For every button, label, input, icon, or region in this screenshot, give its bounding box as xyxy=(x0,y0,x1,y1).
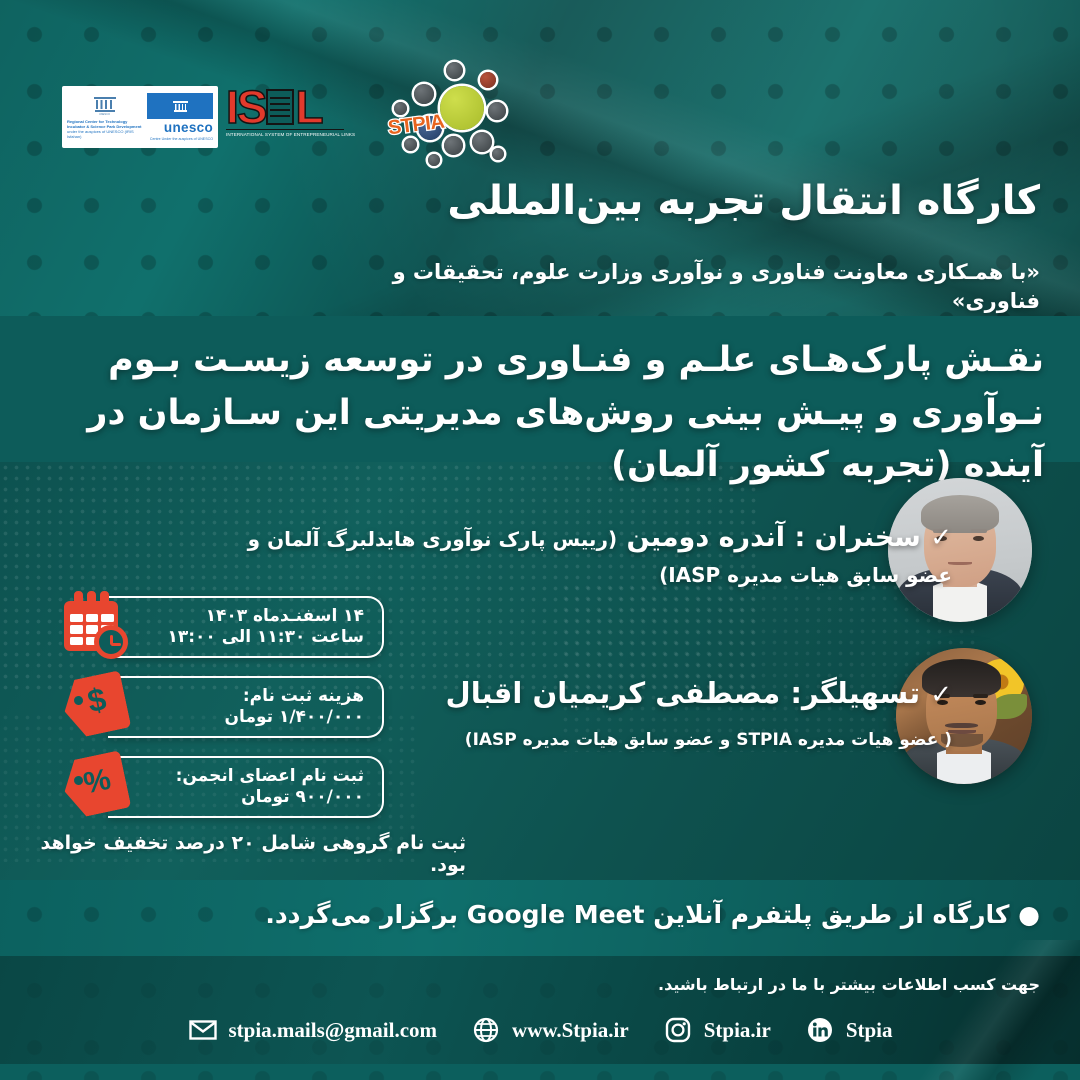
workshop-headline: نقـش پارک‌هـای علـم و فنـاوری در توسعه ز… xyxy=(36,334,1044,492)
poster-canvas: unesco Centre Under the auspices of UNES… xyxy=(0,0,1080,1080)
page-title: کارگاه انتقال تجربه بین‌المللی xyxy=(360,176,1040,226)
contact-instagram-label: Stpia.ir xyxy=(704,1018,771,1043)
globe-icon xyxy=(471,1015,501,1045)
unesco-subtext: Centre Under the auspices of UNESCO xyxy=(147,137,213,141)
price-tag-percent-icon: % xyxy=(62,752,134,818)
check-icon: ✓ xyxy=(930,523,952,553)
page-subtitle: «با همـکاری معاونت فناوری و نوآوری وزارت… xyxy=(350,258,1040,317)
time-line: ساعت ۱۱:۳۰ الی ۱۳:۰۰ xyxy=(162,627,364,648)
unesco-blue-block xyxy=(147,93,213,119)
group-discount-note: ثبت نام گروهی شامل ۲۰ درصد تخفیف خواهد ب… xyxy=(36,832,466,876)
contact-website-label: www.Stpia.ir xyxy=(512,1018,629,1043)
stpia-gray-sphere-2 xyxy=(446,62,463,79)
unesco-temple-icon xyxy=(173,100,188,113)
logo-row: unesco Centre Under the auspices of UNES… xyxy=(0,38,1080,128)
contact-linkedin-label: Stpia xyxy=(846,1018,893,1043)
price-text: هزینه ثبت نام: ۱/۴۰۰/۰۰۰ تومان xyxy=(162,686,364,727)
isel-mark-left: IS xyxy=(226,87,265,128)
contact-email[interactable]: stpia.mails@gmail.com xyxy=(188,1015,438,1045)
envelope-icon xyxy=(188,1015,218,1045)
stpia-gray-sphere-1 xyxy=(414,84,434,104)
isel-e-glyph xyxy=(266,89,294,125)
footer-contact-bar: stpia.mails@gmail.com www.Stpia.ir Stpia… xyxy=(0,1008,1080,1052)
price-value: ۱/۴۰۰/۰۰۰ تومان xyxy=(162,707,364,728)
date-time-badge: ۱۴ اسفنـدماه ۱۴۰۳ ساعت ۱۱:۳۰ الی ۱۳:۰۰ xyxy=(108,596,384,658)
unesco-right-desc-bold: Regional Center for Technology Incubator… xyxy=(67,119,141,129)
stpia-red-sphere xyxy=(480,72,496,88)
incubator-temple-icon xyxy=(94,95,116,113)
stpia-gray-sphere-4 xyxy=(472,132,492,152)
speaker-line: ✓ سخنران : آندره دومین (رییس پارک نوآوری… xyxy=(212,520,952,591)
unesco-right-desc: Regional Center for Technology Incubator… xyxy=(67,119,142,140)
contact-email-label: stpia.mails@gmail.com xyxy=(229,1018,438,1043)
instagram-icon xyxy=(663,1015,693,1045)
speaker-name: آندره دومین xyxy=(627,522,786,553)
contact-linkedin[interactable]: Stpia xyxy=(805,1015,893,1045)
stpia-gray-sphere-9 xyxy=(492,148,504,160)
unesco-right-desc-small: under the auspices of UNESCO (IRIS Isfah… xyxy=(67,129,134,139)
facilitator-portrait-illustration xyxy=(896,648,1032,784)
check-icon-2: ✓ xyxy=(930,680,952,710)
stpia-gray-sphere-8 xyxy=(428,154,440,166)
calendar-clock-icon xyxy=(58,589,136,663)
member-price-value: ۹۰۰/۰۰۰ تومان xyxy=(162,787,364,808)
isel-wordmark: IS L xyxy=(226,84,344,128)
unesco-left-block: unesco Centre Under the auspices of UNES… xyxy=(147,93,213,141)
facilitator-avatar xyxy=(896,648,1032,784)
price-badge: هزینه ثبت نام: ۱/۴۰۰/۰۰۰ تومان xyxy=(108,676,384,738)
date-time-text: ۱۴ اسفنـدماه ۱۴۰۳ ساعت ۱۱:۳۰ الی ۱۳:۰۰ xyxy=(162,606,364,647)
stpia-gray-sphere-3 xyxy=(488,102,506,120)
stpia-gray-sphere-6 xyxy=(404,138,417,151)
member-price-label: ثبت نام اعضای انجمن: xyxy=(162,766,364,787)
stpia-logo: STPIA xyxy=(388,62,510,172)
contact-website[interactable]: www.Stpia.ir xyxy=(471,1015,629,1045)
unesco-right-tiny: UNESCO xyxy=(67,114,142,117)
stpia-gray-sphere-5 xyxy=(444,136,463,155)
unesco-right-block: UNESCO Regional Center for Technology In… xyxy=(67,95,142,140)
speaker-label: سخنران : xyxy=(794,522,920,553)
unesco-logo: unesco Centre Under the auspices of UNES… xyxy=(62,86,218,148)
isel-mark-right: L xyxy=(295,87,321,128)
facilitator-label: تسهیلگر: xyxy=(790,676,920,710)
date-line: ۱۴ اسفنـدماه ۱۴۰۳ xyxy=(162,606,364,627)
clock-face xyxy=(94,625,128,659)
price-tag-dollar-icon: $ xyxy=(62,672,134,738)
isel-logo: IS L INTERNATIONAL SYSTEM OF ENTREPRENEU… xyxy=(226,84,344,146)
linkedin-icon xyxy=(805,1015,835,1045)
contact-instagram[interactable]: Stpia.ir xyxy=(663,1015,771,1045)
price-label: هزینه ثبت نام: xyxy=(162,686,364,707)
member-price-badge: ثبت نام اعضای انجمن: ۹۰۰/۰۰۰ تومان xyxy=(108,756,384,818)
stpia-gray-sphere-7 xyxy=(394,102,407,115)
contact-prompt: جهت کسب اطلاعات بیشتر با ما در ارتباط با… xyxy=(40,975,1040,994)
facilitator-name: مصطفی کریمیان اقبال xyxy=(446,676,781,710)
unesco-wordmark: unesco xyxy=(147,121,213,135)
platform-note: ● کارگاه از طریق پلتفرم آنلاین Google Me… xyxy=(40,900,1040,929)
stpia-core-sphere xyxy=(440,86,484,130)
member-price-text: ثبت نام اعضای انجمن: ۹۰۰/۰۰۰ تومان xyxy=(162,766,364,807)
